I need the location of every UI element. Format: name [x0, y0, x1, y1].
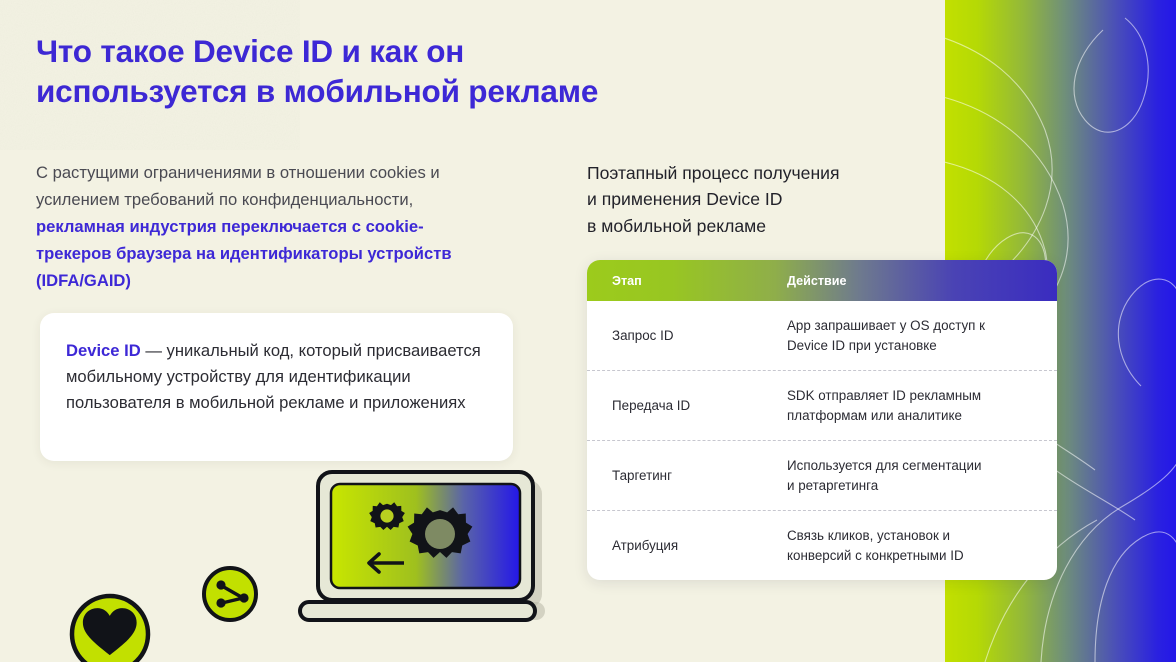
process-table: Этап Действие Запрос ID App запрашивает … — [587, 260, 1057, 580]
row-action-line-2: конверсий с конкретными ID — [787, 548, 964, 563]
row-action-line-2: платформам или аналитике — [787, 408, 962, 423]
row-action-line-2: Device ID при установке — [787, 338, 937, 353]
table-row[interactable]: Запрос ID App запрашивает у OS доступ к … — [587, 301, 1057, 371]
process-heading-line-1: Поэтапный процесс получения — [587, 163, 840, 183]
table-row[interactable]: Таргетинг Используется для сегментации и… — [587, 441, 1057, 511]
heart-icon — [72, 596, 148, 662]
illustration-svg — [0, 462, 580, 662]
table-row[interactable]: Атрибуция Связь кликов, установок и конв… — [587, 511, 1057, 580]
table-row[interactable]: Передача ID SDK отправляет ID рекламным … — [587, 371, 1057, 441]
process-heading-line-2: и применения Device ID — [587, 189, 782, 209]
definition-text: Device ID — уникальный код, который прис… — [66, 338, 490, 417]
page-title: Что такое Device ID и как он используетс… — [36, 31, 716, 111]
process-heading-line-3: в мобильной рекламе — [587, 216, 766, 236]
row-action-line-1: App запрашивает у OS доступ к — [787, 318, 985, 333]
table-header-stage: Этап — [587, 274, 787, 288]
row-stage: Таргетинг — [587, 468, 787, 483]
intro-plain-text: С растущими ограничениями в отношении co… — [36, 163, 440, 209]
table-header-action: Действие — [787, 274, 1057, 288]
process-heading: Поэтапный процесс получения и применения… — [587, 160, 937, 239]
row-action-line-2: и ретаргетинга — [787, 478, 878, 493]
row-action: Используется для сегментации и ретаргети… — [787, 456, 1057, 495]
definition-term: Device ID — [66, 341, 141, 360]
slide-root: Что такое Device ID и как он используетс… — [0, 0, 1176, 662]
title-line-1: Что такое Device ID и как он — [36, 33, 464, 69]
row-action: SDK отправляет ID рекламным платформам и… — [787, 386, 1057, 425]
definition-card: Device ID — уникальный код, который прис… — [40, 313, 513, 461]
row-action-line-1: SDK отправляет ID рекламным — [787, 388, 981, 403]
row-action: App запрашивает у OS доступ к Device ID … — [787, 316, 1057, 355]
title-line-2: используется в мобильной рекламе — [36, 73, 598, 109]
row-stage: Атрибуция — [587, 538, 787, 553]
row-action: Связь кликов, установок и конверсий с ко… — [787, 526, 1057, 565]
share-nodes-icon — [204, 568, 256, 620]
table-header-row: Этап Действие — [587, 260, 1057, 301]
row-action-line-1: Используется для сегментации — [787, 458, 981, 473]
intro-highlight-text: рекламная индустрия переключается с cook… — [36, 217, 452, 290]
row-stage: Передача ID — [587, 398, 787, 413]
laptop-icon — [300, 472, 545, 620]
illustration-group — [0, 462, 580, 662]
row-action-line-1: Связь кликов, установок и — [787, 528, 950, 543]
intro-paragraph: С растущими ограничениями в отношении co… — [36, 160, 488, 294]
row-stage: Запрос ID — [587, 328, 787, 343]
